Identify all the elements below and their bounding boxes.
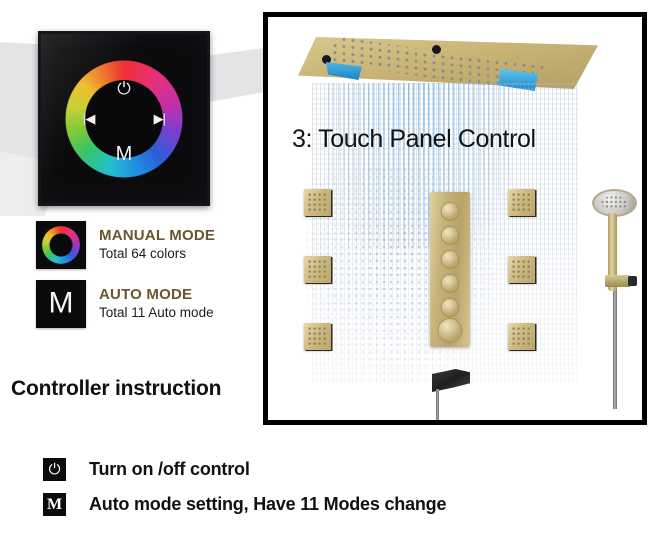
manual-mode-swatch xyxy=(36,221,86,269)
legend-row-manual: MANUAL MODE Total 64 colors xyxy=(36,221,256,269)
legend-subtitle-manual: Total 64 colors xyxy=(99,245,215,263)
valve-knob xyxy=(441,226,460,245)
photo-title: 3: Touch Panel Control xyxy=(292,125,536,154)
valve-knob xyxy=(441,202,460,221)
legend-title-manual: MANUAL MODE xyxy=(99,227,215,244)
instruction-row-power: ⏻ Turn on /off control xyxy=(43,458,643,481)
controller-instruction-heading: Controller instruction xyxy=(11,377,221,401)
letter-m-icon: M xyxy=(43,493,66,516)
body-jet xyxy=(508,256,535,283)
power-icon: ⏻ xyxy=(43,458,66,481)
letter-m-icon: M xyxy=(49,288,74,318)
valve-knob xyxy=(441,298,460,317)
wheel-center xyxy=(85,80,163,158)
spout-pipe xyxy=(436,389,439,425)
body-jet xyxy=(508,323,535,350)
body-jet xyxy=(304,256,331,283)
legend-row-auto: M AUTO MODE Total 11 Auto mode xyxy=(36,280,256,328)
body-jet xyxy=(304,323,331,350)
handheld-bracket xyxy=(605,275,631,287)
power-icon[interactable]: ⏻ xyxy=(117,80,130,97)
mode-icon[interactable]: M xyxy=(116,144,133,164)
body-jet xyxy=(508,189,535,216)
instruction-row-auto-mode: M Auto mode setting, Have 11 Modes chang… xyxy=(43,493,643,516)
legend-text-auto: AUTO MODE Total 11 Auto mode xyxy=(99,286,214,322)
instruction-text-auto-mode: Auto mode setting, Have 11 Modes change xyxy=(89,494,446,515)
body-jet xyxy=(304,189,331,216)
screenshot-root: ⏻ |◀ ▶| M MANUAL MODE Total 64 colors M … xyxy=(0,0,651,546)
auto-mode-swatch: M xyxy=(36,280,86,328)
rgb-touch-panel-controller[interactable]: ⏻ |◀ ▶| M xyxy=(38,31,210,206)
color-wheel-icon xyxy=(42,226,80,264)
previous-icon[interactable]: |◀ xyxy=(83,111,94,127)
led-spot-icon xyxy=(432,45,441,54)
panel-glyph-group: ⏻ |◀ ▶| M xyxy=(81,76,167,162)
valve-temperature-dial xyxy=(438,318,463,343)
thermostatic-valve-panel xyxy=(430,192,470,347)
product-photo-frame: 3: Touch Panel Control xyxy=(263,12,647,425)
product-photo: 3: Touch Panel Control xyxy=(268,17,642,420)
instruction-list: ⏻ Turn on /off control M Auto mode setti… xyxy=(43,458,643,528)
color-wheel-icon[interactable] xyxy=(65,60,183,178)
legend-subtitle-auto: Total 11 Auto mode xyxy=(99,304,214,322)
valve-knob xyxy=(441,250,460,269)
legend-text-manual: MANUAL MODE Total 64 colors xyxy=(99,227,215,263)
legend-title-auto: AUTO MODE xyxy=(99,286,214,303)
mode-legend: MANUAL MODE Total 64 colors M AUTO MODE … xyxy=(36,221,256,339)
valve-knob xyxy=(441,274,460,293)
instruction-text-power: Turn on /off control xyxy=(89,459,250,480)
next-icon[interactable]: ▶| xyxy=(154,111,165,127)
